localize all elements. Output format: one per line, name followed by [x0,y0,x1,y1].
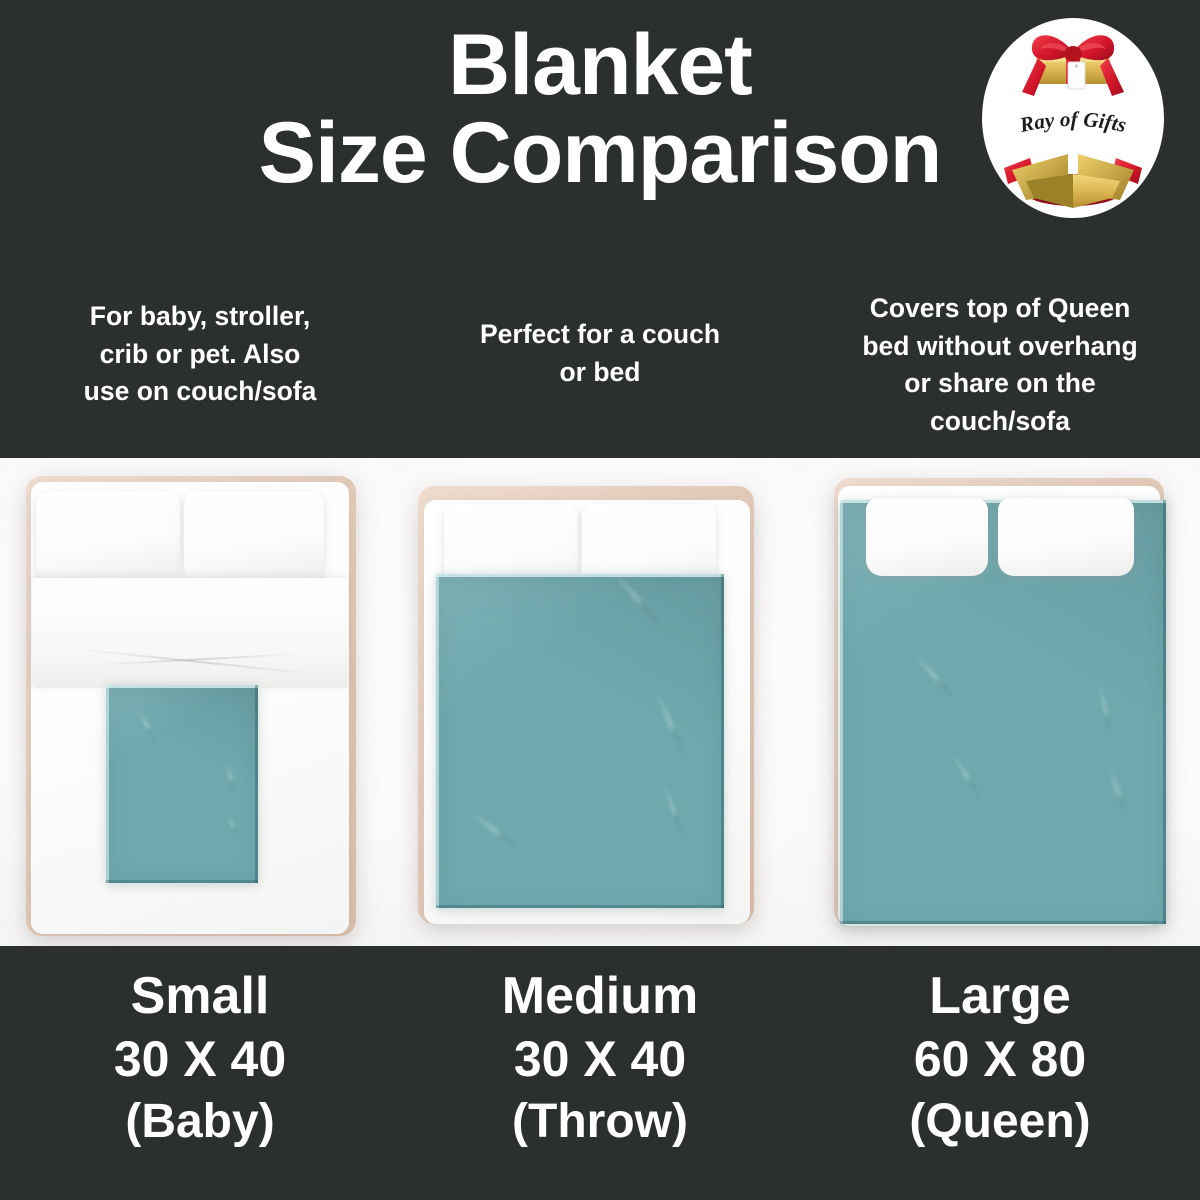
svg-text:Ray of Gifts: Ray of Gifts [1017,107,1129,137]
blanket-edge-right [721,574,724,908]
blanket-edge-left [436,574,439,908]
description-cell-large: Covers top of Queen bed without overhang… [800,268,1200,458]
blanket-wrinkle [1107,766,1132,822]
size-dimensions-small: 30 X 40 [114,1027,286,1091]
ray-of-gifts-logo: Ray of Gifts [982,18,1164,218]
description-text-medium: Perfect for a couch or bed [464,316,736,391]
size-note-small: (Baby) [125,1091,274,1152]
size-label-row: Small 30 X 40 (Baby) Medium 30 X 40 (Thr… [0,946,1200,1200]
bed-photo-strip [0,458,1200,946]
size-label-large: Large 60 X 80 (Queen) [800,946,1200,1200]
blanket-edge-top [106,685,258,688]
blanket-edge-left [106,685,109,883]
bed-photo-small [0,458,400,946]
blanket-wrinkle [949,750,987,807]
blanket-edge-bottom [106,880,258,883]
blanket-edge-right [255,685,258,883]
blanket-edge-left [840,500,843,924]
blanket-size-comparison-infographic: Blanket Size Comparison [0,0,1200,1200]
size-dimensions-large: 60 X 80 [914,1027,1086,1091]
size-label-small: Small 30 X 40 (Baby) [0,946,400,1200]
blanket-wrinkle [1096,683,1115,742]
blanket-edge-right [1163,500,1166,924]
pillow-left [36,492,180,582]
description-cell-medium: Perfect for a couch or bed [400,268,800,458]
size-name-small: Small [131,966,270,1027]
pillow-right [184,492,324,582]
blanket-wrinkle [653,689,691,765]
blanket-wrinkle [467,809,529,856]
blanket-wrinkle [226,812,240,842]
size-note-medium: (Throw) [512,1091,688,1152]
blanket-wrinkle [136,709,159,747]
description-text-large: Covers top of Queen bed without overhang… [846,290,1153,441]
size-label-medium: Medium 30 X 40 (Throw) [400,946,800,1200]
header-banner: Blanket Size Comparison [0,0,1200,268]
size-name-medium: Medium [502,966,698,1027]
description-cell-small: For baby, stroller, crib or pet. Also us… [0,268,400,458]
teal-blanket-medium [436,574,724,908]
description-row: For baby, stroller, crib or pet. Also us… [0,268,1200,458]
bed-photo-large [800,458,1200,946]
size-dimensions-medium: 30 X 40 [514,1027,686,1091]
blanket-edge-bottom [840,921,1166,924]
logo-brand-text: Ray of Gifts [1017,107,1129,137]
pillow-right [998,498,1134,576]
blanket-edge-bottom [436,905,724,908]
size-name-large: Large [929,966,1071,1027]
bed-photo-medium [400,458,800,946]
size-note-large: (Queen) [909,1091,1090,1152]
blanket-wrinkle [662,781,687,843]
blanket-wrinkle [225,762,237,796]
pillow-left [866,498,988,576]
gift-logo-icon: Ray of Gifts [982,18,1164,218]
description-text-small: For baby, stroller, crib or pet. Also us… [68,298,333,411]
teal-blanket-small [106,685,258,883]
blanket-edge-top [436,574,724,577]
blanket-wrinkle [911,651,962,707]
